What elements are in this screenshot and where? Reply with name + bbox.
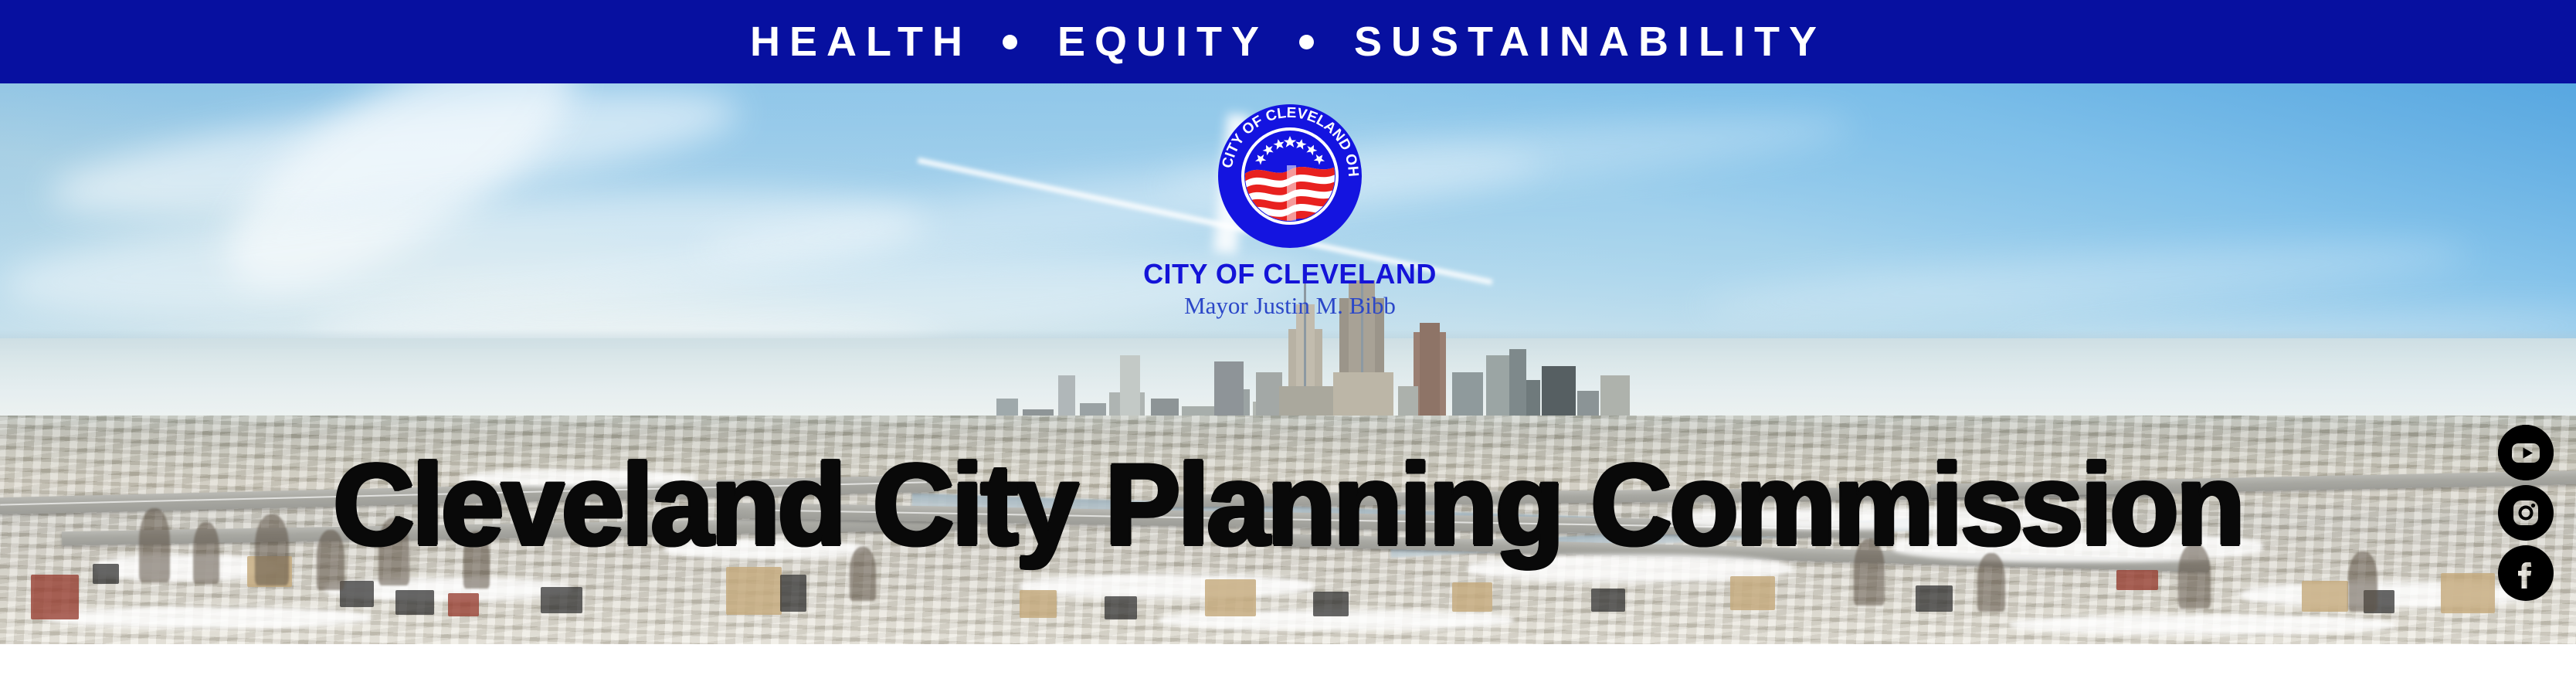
page-title: Cleveland City Planning Commission [39, 446, 2537, 562]
banner-word-sustainability: SUSTAINABILITY [1354, 21, 1826, 63]
banner-tagline: HEALTH EQUITY SUSTAINABILITY [750, 21, 1826, 63]
city-brand-block: CITY OF CLEVELAND OHIO [1089, 99, 1491, 318]
facebook-icon[interactable] [2496, 544, 2555, 602]
hero-photo: CITY OF CLEVELAND OHIO [0, 83, 2576, 644]
bullet-dot-icon [1299, 35, 1314, 49]
bullet-dot-icon [1003, 35, 1017, 49]
org-name: CITY OF CLEVELAND [1089, 260, 1491, 289]
youtube-icon[interactable] [2496, 423, 2555, 482]
page-root: HEALTH EQUITY SUSTAINABILITY [0, 0, 2576, 682]
instagram-icon[interactable] [2496, 484, 2555, 542]
top-banner: HEALTH EQUITY SUSTAINABILITY [0, 0, 2576, 83]
banner-word-health: HEALTH [750, 21, 972, 63]
social-links [2495, 423, 2557, 602]
bottom-white-band [0, 644, 2576, 682]
mayor-name: Mayor Justin M. Bibb [1089, 293, 1491, 319]
banner-word-equity: EQUITY [1057, 21, 1268, 63]
city-of-cleveland-seal-icon: CITY OF CLEVELAND OHIO [1213, 99, 1367, 253]
